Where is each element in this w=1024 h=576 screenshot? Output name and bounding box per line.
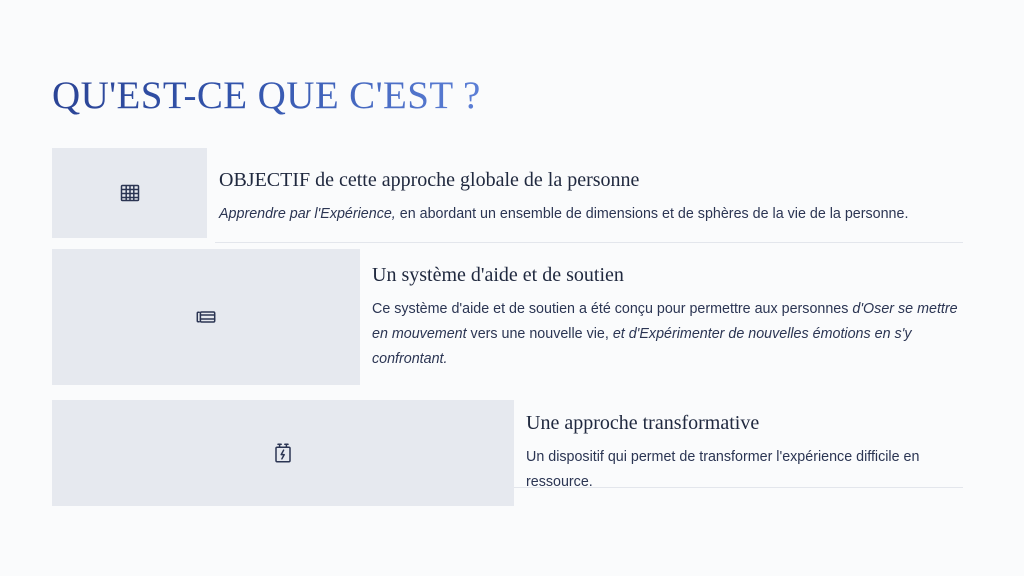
- list-item-body: Apprendre par l'Expérience, en abordant …: [219, 202, 963, 227]
- body-segment: vers une nouvelle vie,: [467, 326, 613, 342]
- list-item-heading: Une approche transformative: [526, 410, 963, 437]
- slide-canvas: QU'EST-CE QUE C'EST ? OBJ: [0, 0, 1024, 576]
- media-placeholder-3: [52, 400, 514, 506]
- list-item-content: OBJECTIF de cette approche globale de la…: [219, 148, 963, 227]
- list-item: Un système d'aide et de soutien Ce systè…: [0, 249, 1024, 395]
- list-item-content: Une approche transformative Un dispositi…: [526, 400, 963, 495]
- media-placeholder-1: [52, 148, 207, 238]
- list-item-body: Un dispositif qui permet de transformer …: [526, 445, 963, 495]
- body-segment: Ce système d'aide et de soutien a été co…: [372, 301, 852, 317]
- list-item-content: Un système d'aide et de soutien Ce systè…: [372, 249, 963, 372]
- body-segment: en abordant un ensemble de dimensions et…: [396, 206, 909, 222]
- page-title: QU'EST-CE QUE C'EST ?: [52, 70, 481, 122]
- list-item: OBJECTIF de cette approche globale de la…: [0, 148, 1024, 244]
- body-segment: Apprendre par l'Expérience,: [219, 206, 396, 222]
- battery-bolt-icon: [271, 441, 295, 465]
- list-item: Une approche transformative Un dispositi…: [0, 400, 1024, 512]
- row-separator: [215, 242, 963, 243]
- list-item-heading: OBJECTIF de cette approche globale de la…: [219, 167, 963, 194]
- body-segment: Un dispositif qui permet de transformer …: [526, 449, 919, 490]
- media-placeholder-2: [52, 249, 360, 385]
- stacked-cards-icon: [194, 305, 218, 329]
- list-item-body: Ce système d'aide et de soutien a été co…: [372, 297, 963, 372]
- grid-table-icon: [118, 181, 142, 205]
- list-item-heading: Un système d'aide et de soutien: [372, 262, 963, 289]
